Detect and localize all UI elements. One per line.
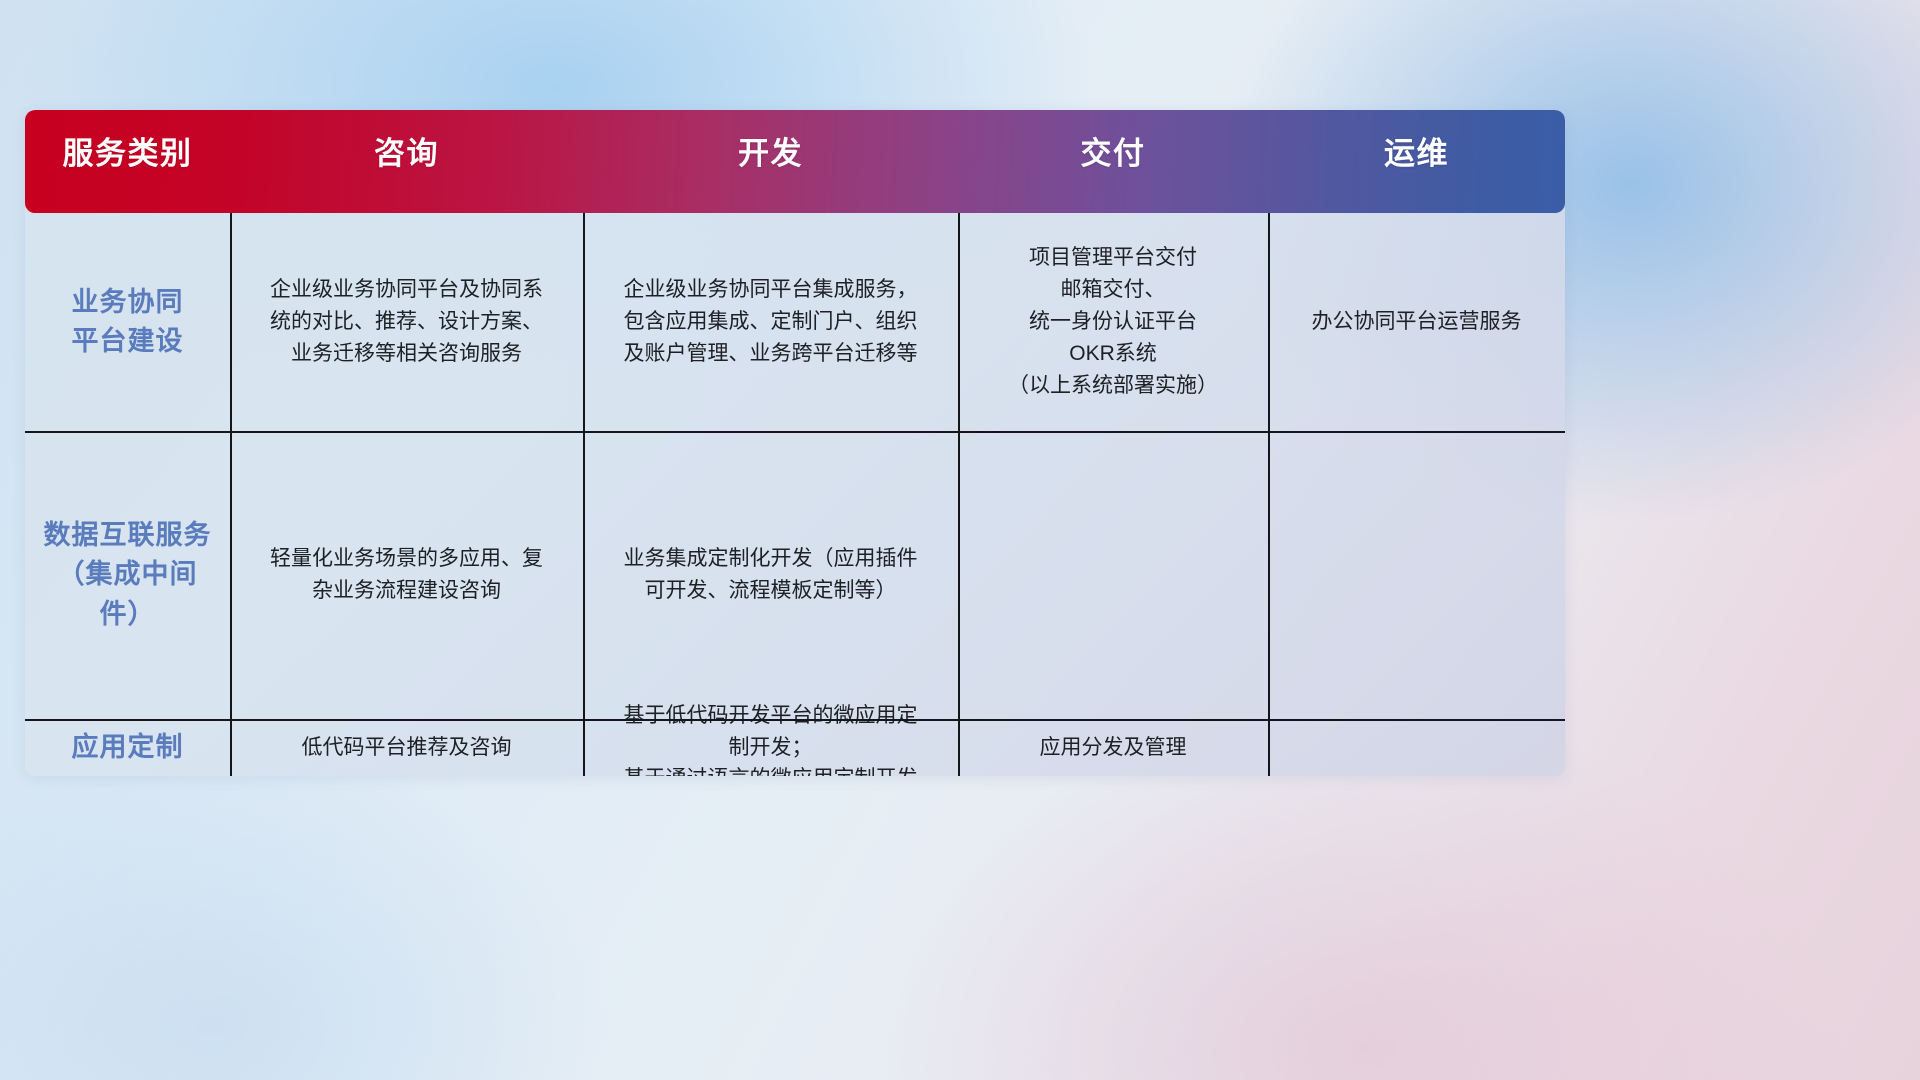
column-header-consulting: 咨询: [230, 110, 583, 213]
row-label-cell: 业务协同 平台建设: [25, 213, 230, 431]
cell-text: 业务集成定制化开发（应用插件 可开发、流程模板定制等）: [624, 543, 918, 607]
column-divider: [230, 213, 232, 776]
column-divider: [958, 213, 960, 776]
row-label-text: 业务协同 平台建设: [72, 283, 184, 361]
row-label-text: 应用定制: [72, 728, 184, 767]
row-label-cell: 应用定制: [25, 719, 230, 776]
row-label-cell: 数据互联服务 （集成中间件）: [25, 431, 230, 719]
cell-text: 企业级业务协同平台及协同系 统的对比、推荐、设计方案、 业务迁移等相关咨询服务: [270, 274, 543, 370]
cell-consulting: 低代码平台推荐及咨询: [230, 719, 583, 776]
column-header-operations: 运维: [1268, 110, 1565, 213]
table-header-row: 服务类别 咨询 开发 交付 运维: [25, 110, 1565, 213]
column-header-development: 开发: [583, 110, 958, 213]
column-divider: [583, 213, 585, 776]
cell-text: 应用分发及管理: [1040, 732, 1187, 764]
cell-delivery: [958, 431, 1268, 719]
cell-text: 轻量化业务场景的多应用、复 杂业务流程建设咨询: [270, 543, 543, 607]
table-body: 业务协同 平台建设 企业级业务协同平台及协同系 统的对比、推荐、设计方案、 业务…: [25, 213, 1565, 776]
table-row: 应用定制 低代码平台推荐及咨询 基于低代码开发平台的微应用定 制开发； 基于通过…: [25, 719, 1565, 776]
column-divider: [1268, 213, 1270, 776]
row-divider: [25, 431, 1565, 433]
cell-text: 基于低代码开发平台的微应用定 制开发； 基于通过语言的微应用定制开发: [624, 700, 918, 776]
cell-delivery: 应用分发及管理: [958, 719, 1268, 776]
table-row: 数据互联服务 （集成中间件） 轻量化业务场景的多应用、复 杂业务流程建设咨询 业…: [25, 431, 1565, 719]
table-row: 业务协同 平台建设 企业级业务协同平台及协同系 统的对比、推荐、设计方案、 业务…: [25, 213, 1565, 431]
column-header-delivery: 交付: [958, 110, 1268, 213]
service-matrix-table: 服务类别 咨询 开发 交付 运维 业务协同 平台建设 企业级业务协同平台及协同系…: [25, 110, 1565, 776]
cell-text: 企业级业务协同平台集成服务， 包含应用集成、定制门户、组织 及账户管理、业务跨平…: [624, 274, 918, 370]
row-label-text: 数据互联服务 （集成中间件）: [39, 516, 216, 633]
cell-text: 办公协同平台运营服务: [1312, 306, 1522, 338]
cell-operations: [1268, 719, 1565, 776]
cell-development: 企业级业务协同平台集成服务， 包含应用集成、定制门户、组织 及账户管理、业务跨平…: [583, 213, 958, 431]
cell-operations: 办公协同平台运营服务: [1268, 213, 1565, 431]
row-divider: [25, 719, 1565, 721]
cell-consulting: 企业级业务协同平台及协同系 统的对比、推荐、设计方案、 业务迁移等相关咨询服务: [230, 213, 583, 431]
column-header-category: 服务类别: [25, 110, 230, 213]
cell-text: 低代码平台推荐及咨询: [302, 732, 512, 764]
cell-operations: [1268, 431, 1565, 719]
cell-development: 基于低代码开发平台的微应用定 制开发； 基于通过语言的微应用定制开发: [583, 719, 958, 776]
cell-development: 业务集成定制化开发（应用插件 可开发、流程模板定制等）: [583, 431, 958, 719]
cell-delivery: 项目管理平台交付 邮箱交付、 统一身份认证平台 OKR系统 （以上系统部署实施）: [958, 213, 1268, 431]
cell-consulting: 轻量化业务场景的多应用、复 杂业务流程建设咨询: [230, 431, 583, 719]
cell-text: 项目管理平台交付 邮箱交付、 统一身份认证平台 OKR系统 （以上系统部署实施）: [1008, 242, 1218, 402]
